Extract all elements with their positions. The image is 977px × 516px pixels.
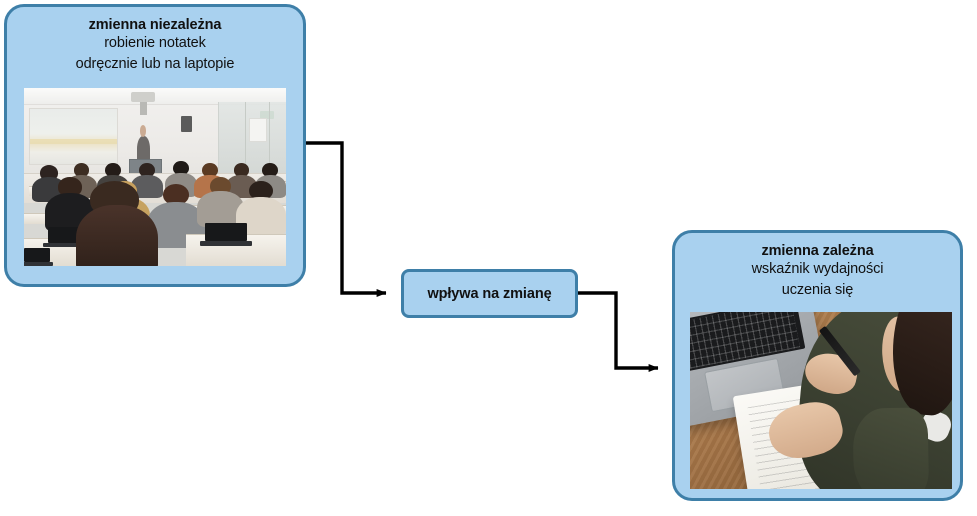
node-relation-label: wpływa na zmianę (427, 286, 551, 302)
node-relation[interactable]: wpływa na zmianę (401, 269, 578, 318)
node-dependent-line3: uczenia się (675, 280, 960, 301)
diagram-canvas: zmienna niezależna robienie notatek odrę… (0, 0, 977, 516)
node-independent-line3: odręcznie lub na laptopie (7, 54, 303, 75)
node-independent-title: zmienna niezależna (7, 18, 303, 33)
connector-independent-to-relation (306, 143, 386, 293)
lecture-hall-photo (24, 88, 286, 266)
node-dependent-title: zmienna zależna (675, 244, 960, 259)
note-taking-photo (690, 312, 952, 489)
node-dependent-line2: wskaźnik wydajności (675, 259, 960, 280)
node-independent-line2: robienie notatek (7, 33, 303, 54)
connector-relation-to-dependent (578, 293, 658, 368)
